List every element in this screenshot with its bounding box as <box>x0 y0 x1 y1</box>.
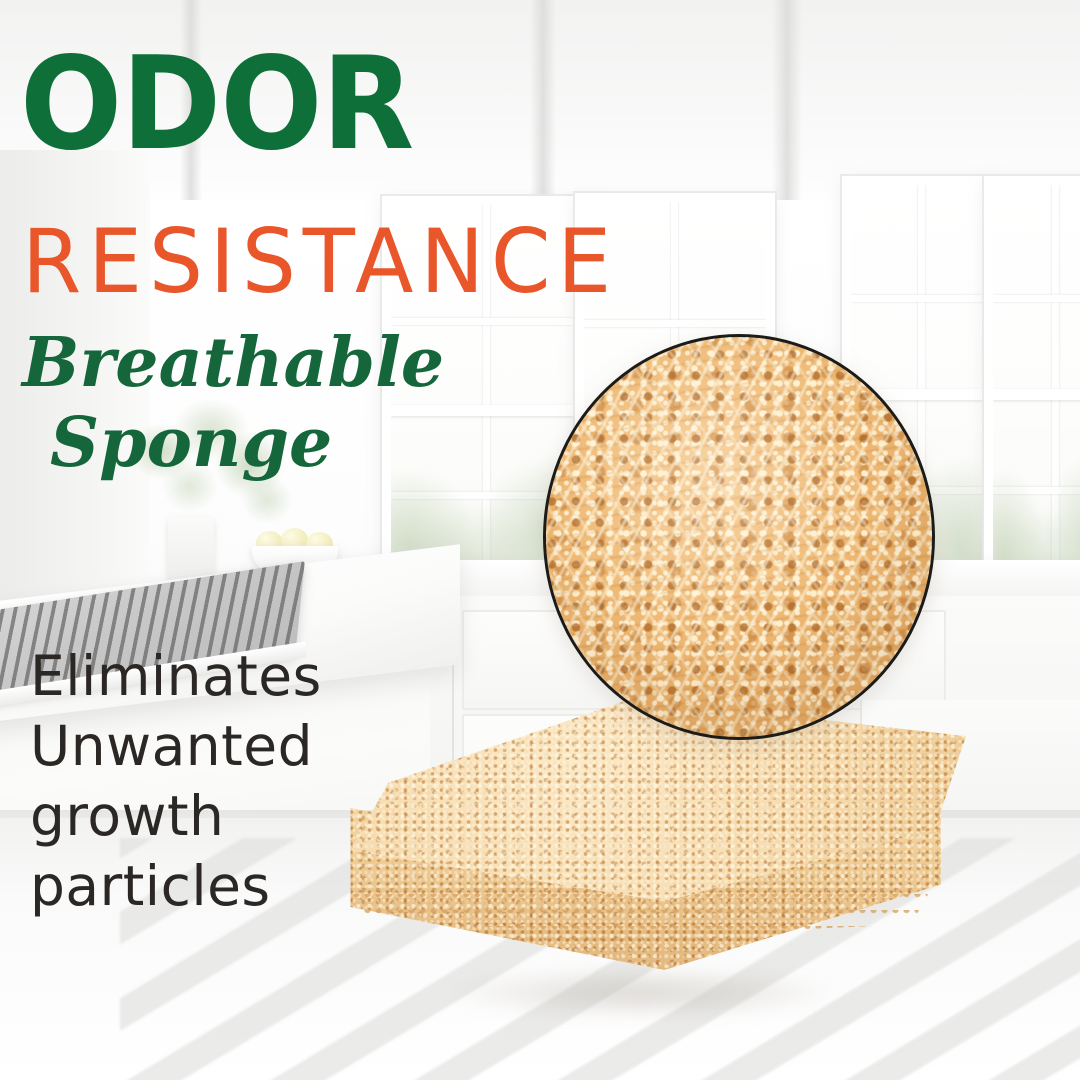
sponge-bottom-fringe <box>351 894 929 936</box>
window-mullion-horizontal <box>851 295 987 302</box>
sponge-macro-inset-circle <box>543 334 935 740</box>
benefit-copy-block: Eliminates Unwanted growth particles <box>30 642 322 921</box>
benefit-copy-line: growth <box>30 782 322 852</box>
ceiling-beam <box>530 0 556 215</box>
window-right-2 <box>984 176 1080 602</box>
sponge-product <box>338 698 966 1036</box>
script-line-sponge: Sponge <box>50 410 332 477</box>
sponge-drop-shadow <box>362 956 922 1030</box>
macro-vignette <box>546 337 932 737</box>
headline-odor: ODOR <box>20 46 413 164</box>
ceiling-beam <box>772 0 802 215</box>
script-line-breathable: Breathable <box>22 330 444 397</box>
window-mullion-horizontal <box>993 295 1080 302</box>
headline-resistance: RESISTANCE <box>22 218 618 306</box>
benefit-copy-line: particles <box>30 852 322 922</box>
benefit-copy-line: Unwanted <box>30 712 322 782</box>
benefit-copy-line: Eliminates <box>30 642 322 712</box>
product-marketing-canvas: ODOR RESISTANCE Breathable Sponge Elimin… <box>0 0 1080 1080</box>
window-mullion-horizontal <box>584 320 766 327</box>
